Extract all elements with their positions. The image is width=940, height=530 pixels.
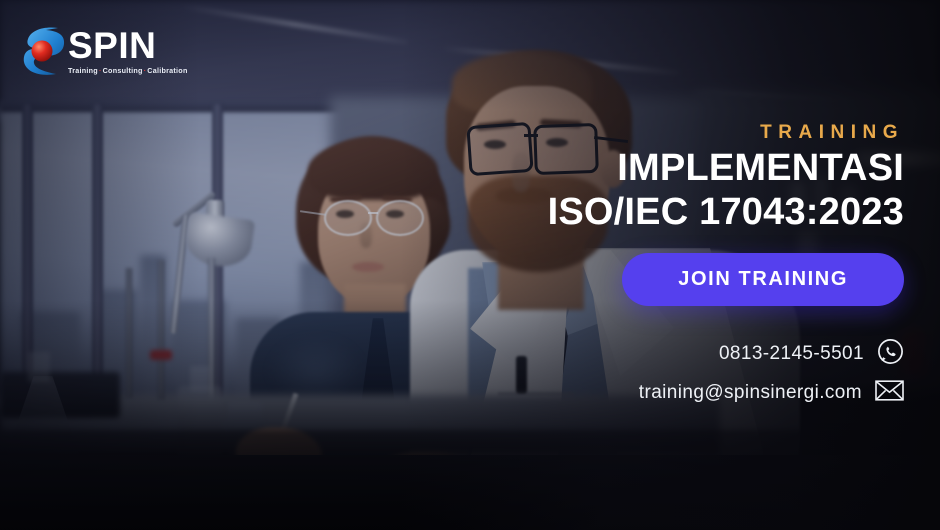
join-training-button[interactable]: JOIN TRAINING <box>622 253 904 306</box>
tagline-consulting: Consulting <box>103 66 143 75</box>
tagline-training: Training <box>68 66 98 75</box>
headline-line-1: IMPLEMENTASI <box>617 148 904 189</box>
email-row[interactable]: training@spinsinergi.com <box>639 379 904 407</box>
tagline-calibration: Calibration <box>147 66 187 75</box>
contact-block: 0813-2145-5501 training@spinsinergi.com <box>639 338 904 407</box>
spin-logo-mark-icon <box>22 24 66 78</box>
phone-row[interactable]: 0813-2145-5501 <box>719 338 904 370</box>
headline-line-2: ISO/IEC 17043:2023 <box>548 192 904 233</box>
logo-wordmark: SPIN <box>68 27 188 64</box>
whatsapp-icon[interactable] <box>877 338 904 370</box>
envelope-icon[interactable] <box>875 379 904 407</box>
logo-tagline: Training·Consulting·Calibration <box>68 67 188 74</box>
brand-logo[interactable]: SPIN Training·Consulting·Calibration <box>22 24 188 78</box>
phone-number: 0813-2145-5501 <box>719 343 864 365</box>
promo-banner: SPIN Training·Consulting·Calibration TRA… <box>0 0 940 530</box>
eyebrow-label: TRAINING <box>760 123 904 142</box>
logo-text-block: SPIN Training·Consulting·Calibration <box>68 27 188 74</box>
email-address: training@spinsinergi.com <box>639 382 862 404</box>
promo-content: TRAINING IMPLEMENTASI ISO/IEC 17043:2023… <box>284 0 904 530</box>
